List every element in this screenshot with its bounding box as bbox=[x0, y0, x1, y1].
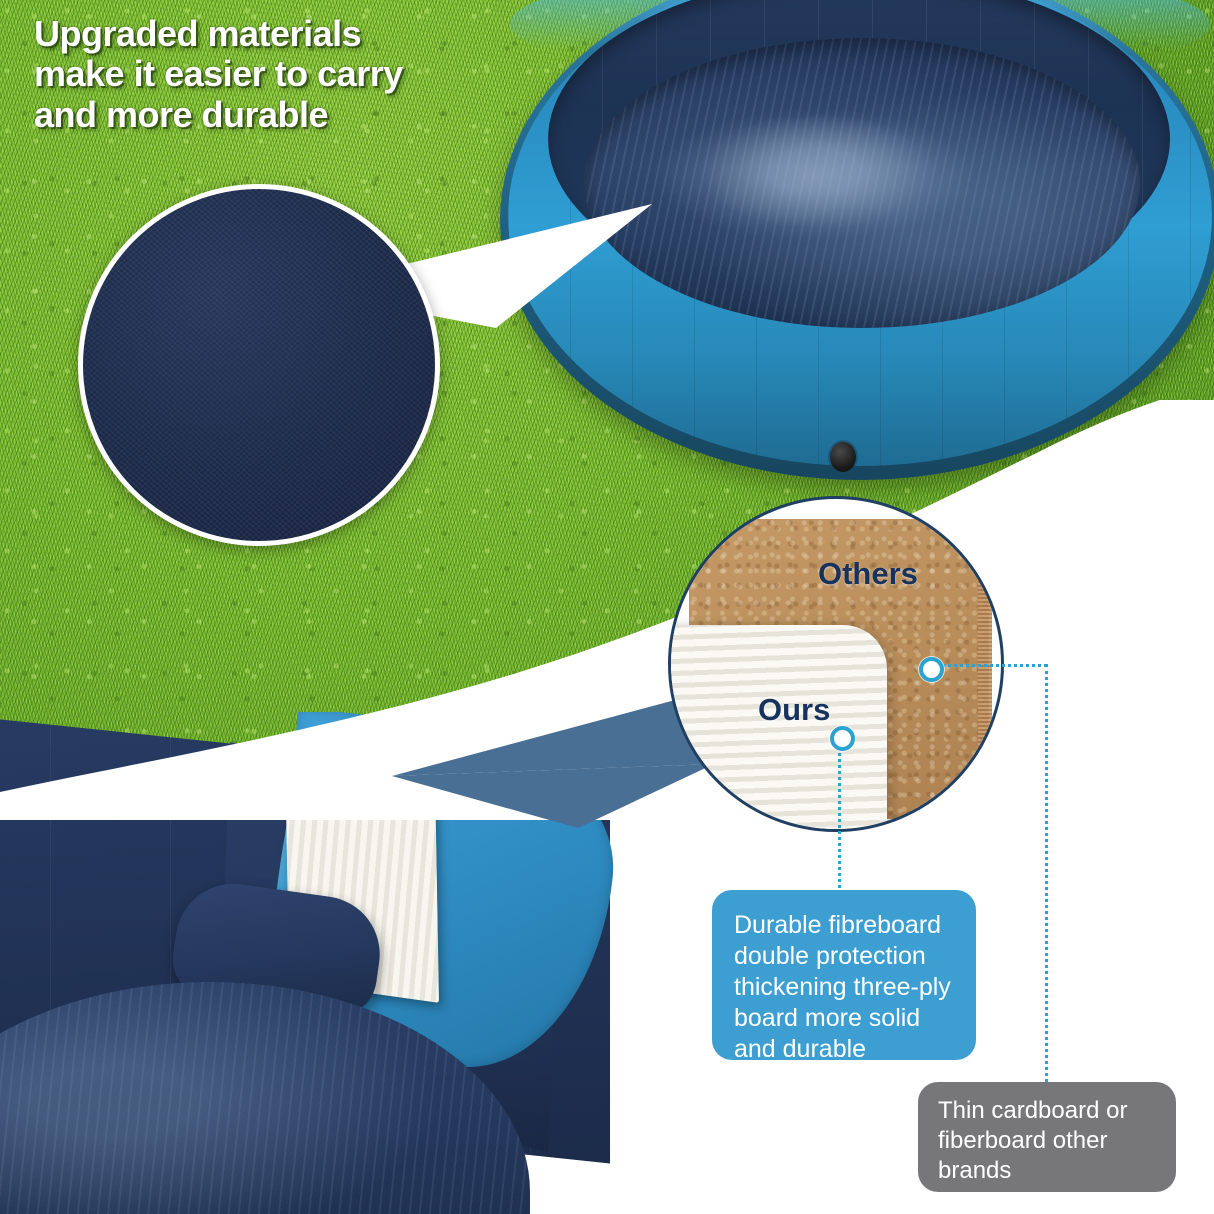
others-label: Others bbox=[818, 556, 918, 592]
ours-fibreboard-sample bbox=[668, 625, 887, 832]
marker-dot-ours bbox=[830, 726, 855, 751]
connector-others-vertical bbox=[1045, 664, 1048, 1088]
callout-others-line-1: Thin cardboard or bbox=[938, 1096, 1156, 1126]
connector-others-horizontal bbox=[937, 664, 1047, 667]
water-reflection bbox=[650, 110, 980, 240]
headline-line-3: and more durable bbox=[34, 95, 554, 135]
fabric-closeup-circle bbox=[78, 184, 440, 546]
headline-text: Upgraded materials make it easier to car… bbox=[34, 14, 554, 135]
callout-others-line-2: fiberboard other bbox=[938, 1126, 1156, 1156]
callout-ours-line-2: double protection bbox=[734, 941, 954, 972]
callout-ours-line-1: Durable fibreboard bbox=[734, 910, 954, 941]
callout-ours-line-5: and durable bbox=[734, 1034, 954, 1065]
callout-ours-fibreboard: Durable fibreboard double protection thi… bbox=[712, 890, 976, 1060]
callout-others-cardboard: Thin cardboard or fiberboard other brand… bbox=[918, 1082, 1176, 1192]
headline-line-2: make it easier to carry bbox=[34, 54, 554, 94]
cardboard-edge-texture bbox=[978, 539, 992, 832]
connector-ours-vertical bbox=[838, 742, 841, 894]
callout-ours-line-4: board more solid bbox=[734, 1003, 954, 1034]
marker-dot-others bbox=[919, 657, 944, 682]
callout-ours-line-3: thickening three-ply bbox=[734, 972, 954, 1003]
ours-label: Ours bbox=[758, 692, 830, 728]
headline-line-1: Upgraded materials bbox=[34, 14, 554, 54]
callout-others-line-3: brands bbox=[938, 1156, 1156, 1186]
infographic-canvas: Others Ours Durable fibreboard double pr… bbox=[0, 0, 1214, 1214]
